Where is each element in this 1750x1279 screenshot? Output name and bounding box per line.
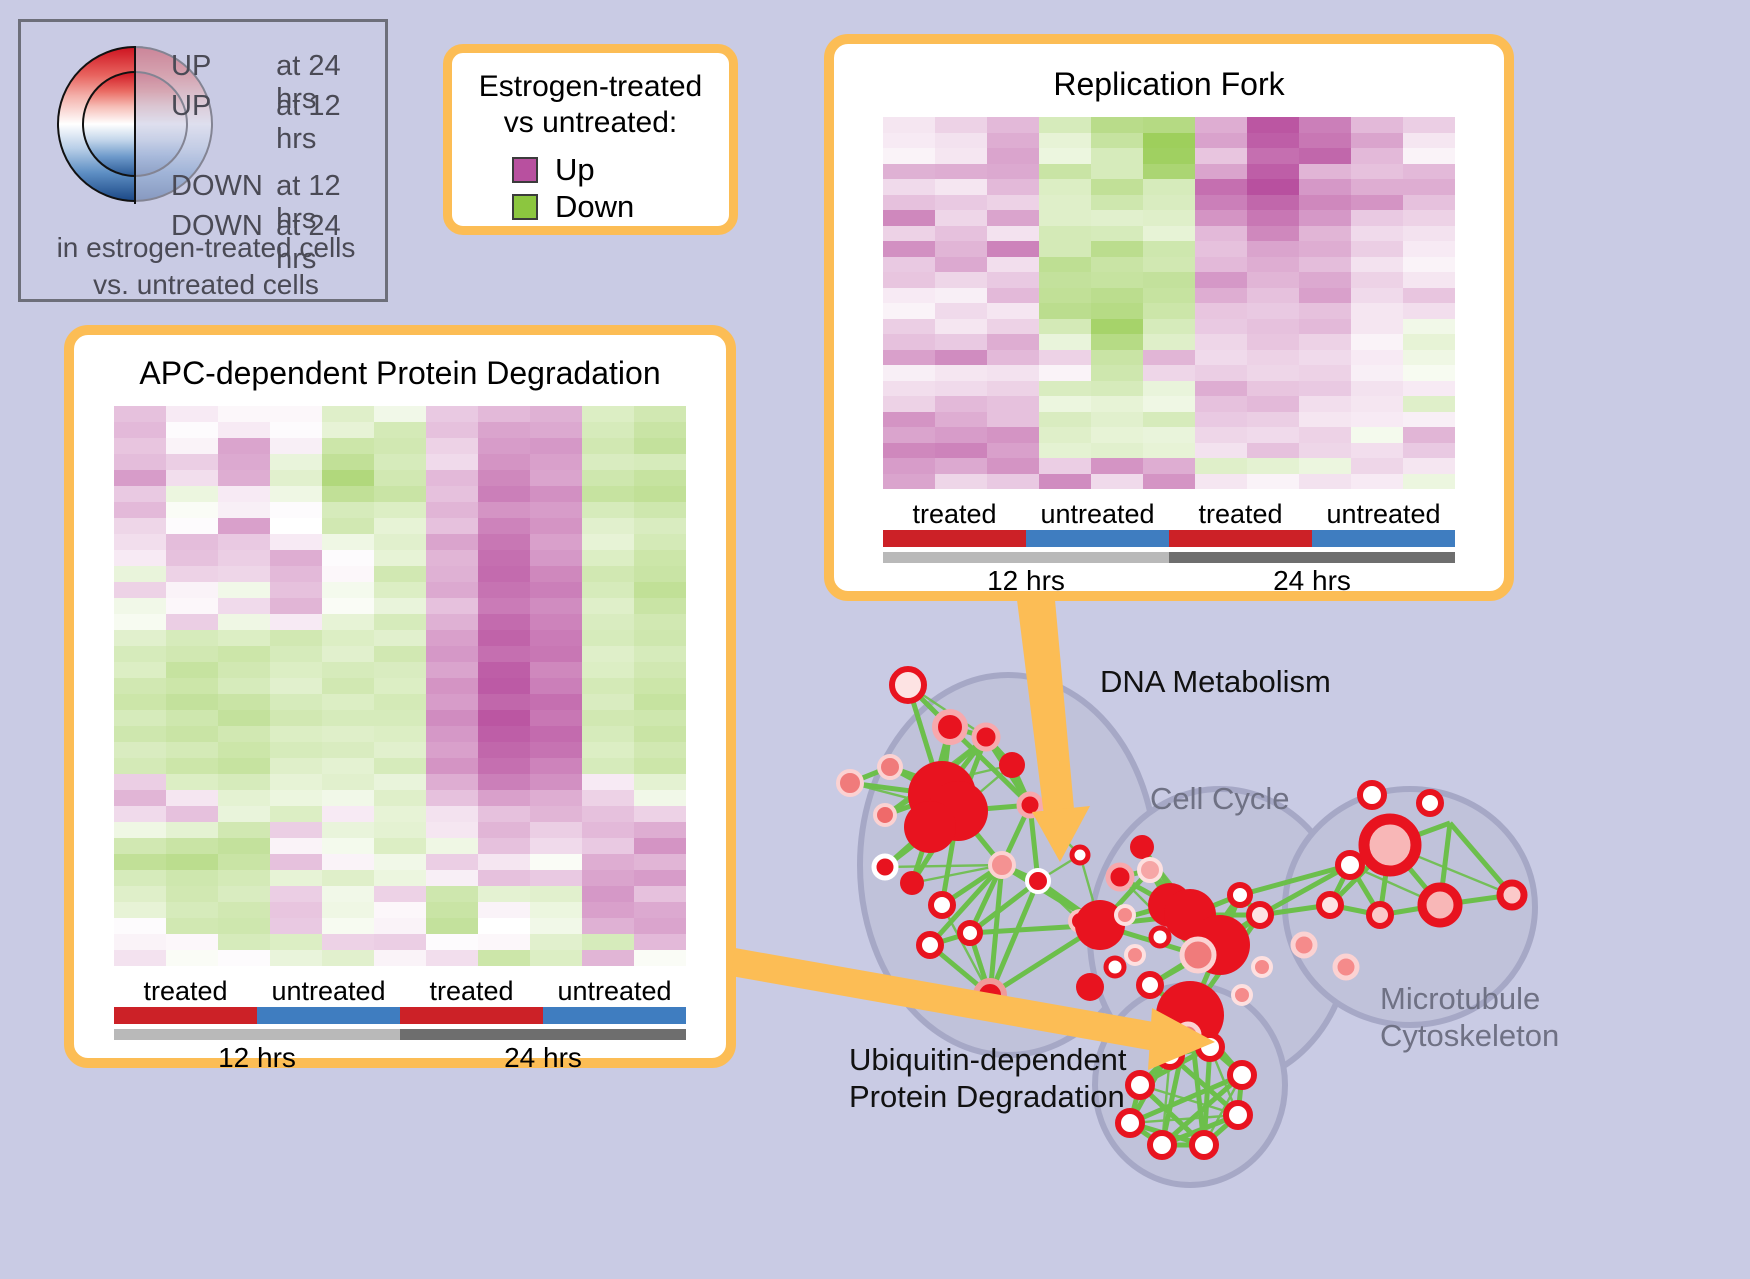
heatmap-cell	[218, 614, 270, 630]
heatmap-cell	[1351, 148, 1403, 164]
heatmap-cell	[1403, 117, 1455, 133]
heatmap-cell	[114, 470, 166, 486]
network-node[interactable]	[1128, 1073, 1152, 1097]
heatmap-cell	[1351, 319, 1403, 335]
network-node[interactable]	[1108, 865, 1132, 889]
heatmap-cell	[426, 486, 478, 502]
heatmap-cell	[530, 742, 582, 758]
heatmap-cell	[270, 454, 322, 470]
heatmap-cell	[1143, 210, 1195, 226]
heatmap-cell	[1039, 350, 1091, 366]
network-node[interactable]	[1230, 1063, 1254, 1087]
heatmap-cell	[1351, 396, 1403, 412]
heatmap-cell	[1039, 272, 1091, 288]
network-node[interactable]	[1422, 887, 1458, 923]
network-node[interactable]	[1335, 956, 1357, 978]
heatmap-cell	[1195, 179, 1247, 195]
heatmap-cell	[1143, 334, 1195, 350]
heatmap-cell	[582, 870, 634, 886]
heatmap-cell	[218, 486, 270, 502]
heatmap-cell	[1143, 226, 1195, 242]
heatmap-cell	[426, 918, 478, 934]
heatmap-cell	[1247, 179, 1299, 195]
heatmap-cell	[114, 902, 166, 918]
heatmap-cell	[1247, 350, 1299, 366]
heatmap-cell	[374, 918, 426, 934]
heatmap-cell	[270, 774, 322, 790]
heatmap-cell	[1091, 133, 1143, 149]
color-key-footer: in estrogen-treated cells vs. untreated …	[21, 230, 391, 304]
heatmap-cell	[166, 950, 218, 966]
network-node[interactable]	[1106, 958, 1124, 976]
heatmap-cell	[374, 854, 426, 870]
heatmap-cell	[374, 502, 426, 518]
heatmap-cell	[426, 598, 478, 614]
heatmap-cell	[374, 646, 426, 662]
heatmap-cell	[582, 486, 634, 502]
heatmap-cell	[478, 854, 530, 870]
heatmap-cell	[582, 854, 634, 870]
network-node[interactable]	[892, 669, 924, 701]
time-labels: 12 hrs 24 hrs	[114, 1042, 686, 1074]
heatmap-cell	[1195, 427, 1247, 443]
heatmap-cell	[478, 646, 530, 662]
heatmap-cell	[530, 534, 582, 550]
heatmap-cell	[1039, 334, 1091, 350]
heatmap-cell	[478, 822, 530, 838]
heatmap-cell	[1143, 443, 1195, 459]
network-node[interactable]	[1369, 904, 1391, 926]
heatmap-cell	[218, 646, 270, 662]
network-node[interactable]	[1233, 986, 1251, 1004]
network-node[interactable]	[1158, 1043, 1182, 1067]
heatmap-cell	[1247, 148, 1299, 164]
heatmap-cell	[478, 758, 530, 774]
heatmap-cell	[218, 662, 270, 678]
heatmap-cell	[166, 870, 218, 886]
network-node[interactable]	[1019, 794, 1041, 816]
heatmap-cell	[218, 838, 270, 854]
heatmap-apc-degradation	[114, 406, 686, 966]
heatmap-cell	[114, 534, 166, 550]
heatmap-cell	[530, 518, 582, 534]
heatmap-cell	[582, 518, 634, 534]
heatmap-cell	[270, 470, 322, 486]
heatmap-cell	[883, 179, 935, 195]
timepoint-bar	[883, 552, 1455, 563]
heatmap-cell	[478, 918, 530, 934]
heatmap-cell	[1403, 365, 1455, 381]
heatmap-cell	[530, 582, 582, 598]
heatmap-cell	[935, 427, 987, 443]
heatmap-cell	[530, 886, 582, 902]
heatmap-cell	[374, 950, 426, 966]
heatmap-cell	[1039, 148, 1091, 164]
heatmap-cell	[1247, 226, 1299, 242]
heatmap-cell	[987, 272, 1039, 288]
heatmap-cell	[166, 678, 218, 694]
heatmap-cell	[1299, 412, 1351, 428]
heatmap-cell	[322, 870, 374, 886]
heatmap-cell	[166, 406, 218, 422]
key-row-up-12: UP at 12 hrs	[171, 90, 386, 130]
heatmap-cell	[478, 662, 530, 678]
heatmap-cell	[1299, 365, 1351, 381]
heatmap-cell	[478, 614, 530, 630]
heatmap-cell	[218, 710, 270, 726]
legend-item-down: Down	[512, 188, 729, 225]
network-node[interactable]	[1150, 1133, 1174, 1157]
network-node[interactable]	[960, 923, 980, 943]
network-node[interactable]	[1126, 946, 1144, 964]
heatmap-cell	[1091, 164, 1143, 180]
heatmap-cell	[426, 726, 478, 742]
heatmap-cell	[1351, 241, 1403, 257]
heatmap-cell	[478, 502, 530, 518]
heatmap-cell	[1195, 396, 1247, 412]
heatmap-cell	[582, 886, 634, 902]
network-node[interactable]	[935, 712, 965, 742]
heatmap-cell	[1143, 427, 1195, 443]
heatmap-cell	[322, 582, 374, 598]
heatmap-cell	[114, 886, 166, 902]
heatmap-cell	[166, 502, 218, 518]
network-node[interactable]	[838, 771, 862, 795]
key-row-up-24: UP at 24 hrs	[171, 50, 386, 90]
heatmap-cell	[530, 902, 582, 918]
key-row-down-12: DOWN at 12 hrs	[171, 170, 386, 210]
group-labels: treated untreated treated untreated	[883, 499, 1455, 530]
heatmap-cell	[322, 630, 374, 646]
heatmap-cell	[634, 470, 686, 486]
heatmap-cell	[218, 502, 270, 518]
heatmap-cell	[322, 790, 374, 806]
heatmap-cell	[1143, 458, 1195, 474]
heatmap-cell	[1299, 226, 1351, 242]
network-node[interactable]	[974, 725, 998, 749]
heatmap-cell	[1299, 257, 1351, 273]
heatmap-cell	[322, 758, 374, 774]
heatmap-cell	[987, 443, 1039, 459]
heatmap-cell	[1403, 319, 1455, 335]
panel-title: Replication Fork	[834, 66, 1504, 103]
heatmap-cell	[114, 774, 166, 790]
heatmap-cell	[634, 614, 686, 630]
heatmap-cell	[883, 334, 935, 350]
timepoint-24-segment	[400, 1029, 686, 1040]
heatmap-cell	[1247, 303, 1299, 319]
heatmap-cell	[530, 598, 582, 614]
network-node[interactable]	[1500, 883, 1524, 907]
heatmap-cell	[634, 694, 686, 710]
heatmap-cell	[987, 164, 1039, 180]
heatmap-cell	[322, 710, 374, 726]
network-node[interactable]	[1249, 904, 1271, 926]
heatmap-cell	[478, 566, 530, 582]
heatmap-cell	[270, 438, 322, 454]
heatmap-cell	[1143, 133, 1195, 149]
heatmap-cell	[374, 710, 426, 726]
heatmap-cell	[1403, 179, 1455, 195]
network-node[interactable]	[904, 801, 956, 853]
heatmap-cell	[374, 662, 426, 678]
heatmap-cell	[1195, 458, 1247, 474]
heatmap-cell	[270, 694, 322, 710]
heatmap-cell	[1299, 210, 1351, 226]
network-node[interactable]	[1151, 928, 1169, 946]
heatmap-cell	[987, 381, 1039, 397]
heatmap-cell	[987, 365, 1039, 381]
network-node[interactable]	[1293, 934, 1315, 956]
heatmap-cell	[114, 486, 166, 502]
time-label: 12 hrs	[883, 565, 1169, 597]
heatmap-cell	[166, 550, 218, 566]
heatmap-cell	[478, 790, 530, 806]
heatmap-cell	[166, 518, 218, 534]
heatmap-cell	[374, 694, 426, 710]
heatmap-cell	[1195, 117, 1247, 133]
heatmap-cell	[322, 934, 374, 950]
heatmap-cell	[582, 646, 634, 662]
heatmap-cell	[1403, 443, 1455, 459]
heatmap-cell	[114, 566, 166, 582]
heatmap-cell	[1247, 443, 1299, 459]
heatmap-cell	[634, 950, 686, 966]
heatmap-cell	[166, 470, 218, 486]
heatmap-cell	[634, 918, 686, 934]
heatmap-cell	[530, 486, 582, 502]
network-node[interactable]	[1319, 894, 1341, 916]
heatmap-cell	[987, 148, 1039, 164]
heatmap-cell	[322, 614, 374, 630]
network-node[interactable]	[874, 856, 896, 878]
heatmap-cell	[634, 726, 686, 742]
heatmap-cell	[530, 950, 582, 966]
network-node[interactable]	[1076, 973, 1104, 1001]
heatmap-cell	[1091, 210, 1143, 226]
heatmap-cell	[1195, 412, 1247, 428]
network-node[interactable]	[1192, 1133, 1216, 1157]
network-node[interactable]	[879, 756, 901, 778]
key-direction: UP	[171, 90, 276, 123]
heatmap-cell	[1403, 334, 1455, 350]
network-node[interactable]	[1116, 906, 1134, 924]
heatmap-cell	[883, 241, 935, 257]
heatmap-cell	[478, 870, 530, 886]
heatmap-cell	[935, 241, 987, 257]
heatmap-cell	[1247, 272, 1299, 288]
heatmap-cell	[218, 454, 270, 470]
heatmap-cell	[935, 210, 987, 226]
heatmap-cell	[166, 662, 218, 678]
heatmap-cell	[1039, 365, 1091, 381]
heatmap-cell	[114, 646, 166, 662]
heatmap-cell	[1195, 210, 1247, 226]
heatmap-cell	[530, 438, 582, 454]
heatmap-cell	[582, 438, 634, 454]
heatmap-cell	[374, 454, 426, 470]
heatmap-cell	[530, 454, 582, 470]
heatmap-cell	[883, 381, 935, 397]
heatmap-cell	[582, 774, 634, 790]
heatmap-cell	[883, 257, 935, 273]
heatmap-cell	[270, 678, 322, 694]
network-node[interactable]	[1198, 1035, 1222, 1059]
heatmap-cell	[987, 288, 1039, 304]
heatmap-cell	[1247, 288, 1299, 304]
legend-title-line1: Estrogen-treated	[452, 69, 729, 105]
heatmap-cell	[478, 406, 530, 422]
heatmap-cell	[883, 195, 935, 211]
heatmap-cell	[270, 710, 322, 726]
heatmap-cell	[987, 303, 1039, 319]
heatmap-cell	[478, 598, 530, 614]
heatmap-cell	[218, 550, 270, 566]
heatmap-cell	[987, 257, 1039, 273]
heatmap-cell	[218, 438, 270, 454]
heatmap-cell	[1143, 288, 1195, 304]
network-node[interactable]	[875, 805, 895, 825]
heatmap-cell	[1247, 257, 1299, 273]
heatmap-cell	[1403, 164, 1455, 180]
heatmap-cell	[1403, 257, 1455, 273]
heatmap-cell	[1351, 443, 1403, 459]
panel-apc-degradation: APC-dependent Protein Degradation treate…	[64, 325, 736, 1068]
network-node[interactable]	[1027, 870, 1049, 892]
heatmap-cell	[374, 790, 426, 806]
network-node[interactable]	[976, 981, 1004, 1009]
network-node[interactable]	[999, 752, 1025, 778]
up-swatch-icon	[512, 157, 538, 183]
heatmap-cell	[478, 950, 530, 966]
heatmap-cell	[218, 886, 270, 902]
heatmap-cell	[1403, 288, 1455, 304]
network-node[interactable]	[1130, 835, 1154, 859]
heatmap-cell	[1091, 474, 1143, 490]
heatmap-cell	[634, 582, 686, 598]
network-node[interactable]	[1419, 792, 1441, 814]
heatmap-cell	[1039, 210, 1091, 226]
treatment-bar	[883, 530, 1455, 547]
heatmap-cell	[322, 742, 374, 758]
heatmap-cell	[1247, 474, 1299, 490]
heatmap-cell	[883, 412, 935, 428]
heatmap-cell	[530, 566, 582, 582]
heatmap-cell	[634, 662, 686, 678]
heatmap-cell	[1403, 350, 1455, 366]
network-node[interactable]	[1226, 1103, 1250, 1127]
network-node[interactable]	[919, 934, 941, 956]
heatmap-cell	[166, 534, 218, 550]
heatmap-cell	[1039, 241, 1091, 257]
heatmap-cell	[270, 758, 322, 774]
heatmap-cell	[374, 534, 426, 550]
heatmap-cell	[935, 319, 987, 335]
network-node[interactable]	[1230, 885, 1250, 905]
timepoint-24-segment	[1169, 552, 1455, 563]
network-node[interactable]	[1139, 974, 1161, 996]
network-node[interactable]	[931, 894, 953, 916]
heatmap-cell	[270, 918, 322, 934]
heatmap-cell	[218, 566, 270, 582]
heatmap-cell	[883, 319, 935, 335]
network-node[interactable]	[1364, 819, 1416, 871]
network-node[interactable]	[1253, 958, 1271, 976]
network-node[interactable]	[1182, 939, 1214, 971]
heatmap-cell	[1091, 443, 1143, 459]
network-node[interactable]	[1338, 853, 1362, 877]
heatmap-cell	[935, 474, 987, 490]
heatmap-cell	[1351, 427, 1403, 443]
heatmap-cell	[935, 288, 987, 304]
heatmap-cell	[987, 319, 1039, 335]
heatmap-cell	[322, 566, 374, 582]
network-svg	[790, 615, 1750, 1279]
heatmap-cell	[322, 854, 374, 870]
heatmap-cell	[218, 902, 270, 918]
heatmap-cell	[374, 838, 426, 854]
heatmap-cell	[374, 822, 426, 838]
heatmap-cell	[1039, 303, 1091, 319]
heatmap-cell	[478, 838, 530, 854]
heatmap-cell	[1195, 257, 1247, 273]
heatmap-cell	[114, 806, 166, 822]
network-node[interactable]	[1360, 783, 1384, 807]
heatmap-cell	[530, 790, 582, 806]
heatmap-cell	[634, 678, 686, 694]
time-labels: 12 hrs 24 hrs	[883, 565, 1455, 597]
heatmap-cell	[166, 838, 218, 854]
heatmap-cell	[218, 774, 270, 790]
network-node[interactable]	[1072, 847, 1088, 863]
heatmap-cell	[1403, 381, 1455, 397]
legend-items: Up Down	[452, 151, 729, 225]
treated-bar-segment	[114, 1007, 257, 1024]
heatmap-cell	[1247, 133, 1299, 149]
heatmap-cell	[582, 662, 634, 678]
heatmap-cell	[1195, 272, 1247, 288]
heatmap-cell	[1403, 133, 1455, 149]
heatmap-cell	[883, 164, 935, 180]
heatmap-cell	[1247, 427, 1299, 443]
heatmap-cell	[166, 790, 218, 806]
heatmap-cell	[1195, 241, 1247, 257]
heatmap-cell	[1299, 164, 1351, 180]
heatmap-cell	[114, 406, 166, 422]
network-node[interactable]	[1177, 1024, 1199, 1046]
heatmap-cell	[426, 822, 478, 838]
heatmap-cell	[1143, 195, 1195, 211]
heatmap-cell	[478, 678, 530, 694]
network-node[interactable]	[900, 871, 924, 895]
heatmap-cell	[374, 582, 426, 598]
heatmap-cell	[166, 726, 218, 742]
network-node[interactable]	[990, 853, 1014, 877]
heatmap-cell	[270, 790, 322, 806]
network-node[interactable]	[1139, 859, 1161, 881]
heatmap-cell	[426, 646, 478, 662]
heatmap-cell	[935, 458, 987, 474]
heatmap-cell	[582, 950, 634, 966]
legend-item-label: Down	[555, 189, 634, 225]
heatmap-cell	[426, 438, 478, 454]
heatmap-cell	[426, 694, 478, 710]
heatmap-cell	[478, 518, 530, 534]
heatmap-cell	[634, 534, 686, 550]
heatmap-cell	[1299, 303, 1351, 319]
heatmap-cell	[114, 582, 166, 598]
heatmap-cell	[1091, 241, 1143, 257]
